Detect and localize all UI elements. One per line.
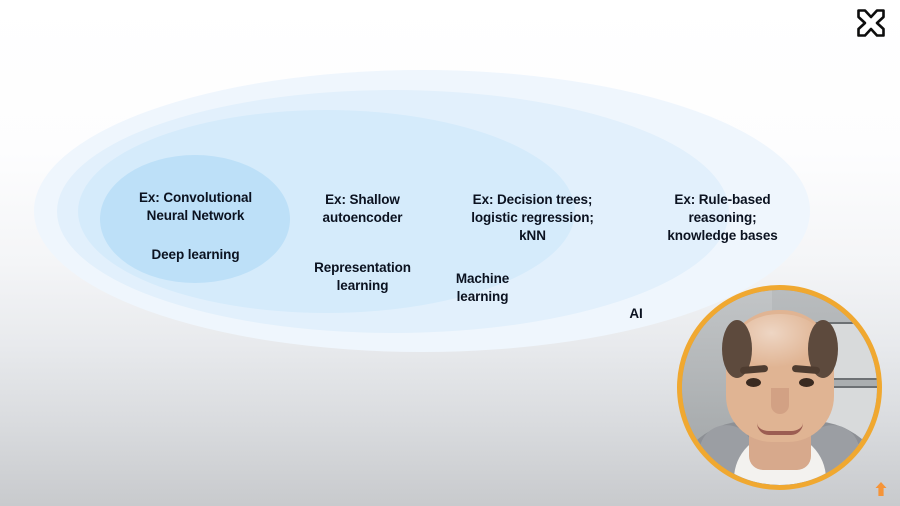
category-label-machine-learning: Machine learning [405, 270, 560, 306]
mouth [757, 423, 803, 435]
example-label-deep-learning: Ex: Convolutional Neural Network [108, 189, 283, 225]
nose [771, 388, 789, 414]
x-logo-icon [854, 6, 888, 40]
example-label-ai: Ex: Rule-based reasoning; knowledge base… [630, 191, 815, 244]
eye-left [746, 378, 761, 387]
example-label-representation-learning: Ex: Shallow autoencoder [285, 191, 440, 227]
category-label-deep-learning: Deep learning [108, 246, 283, 264]
slide-canvas: Ex: Convolutional Neural Network Deep le… [0, 0, 900, 506]
example-label-machine-learning: Ex: Decision trees; logistic regression;… [440, 191, 625, 244]
orange-pointer-icon[interactable] [874, 481, 888, 497]
category-label-ai: AI [600, 305, 672, 323]
webcam-video [682, 290, 877, 485]
eye-right [799, 378, 814, 387]
presenter-webcam[interactable] [677, 285, 882, 490]
